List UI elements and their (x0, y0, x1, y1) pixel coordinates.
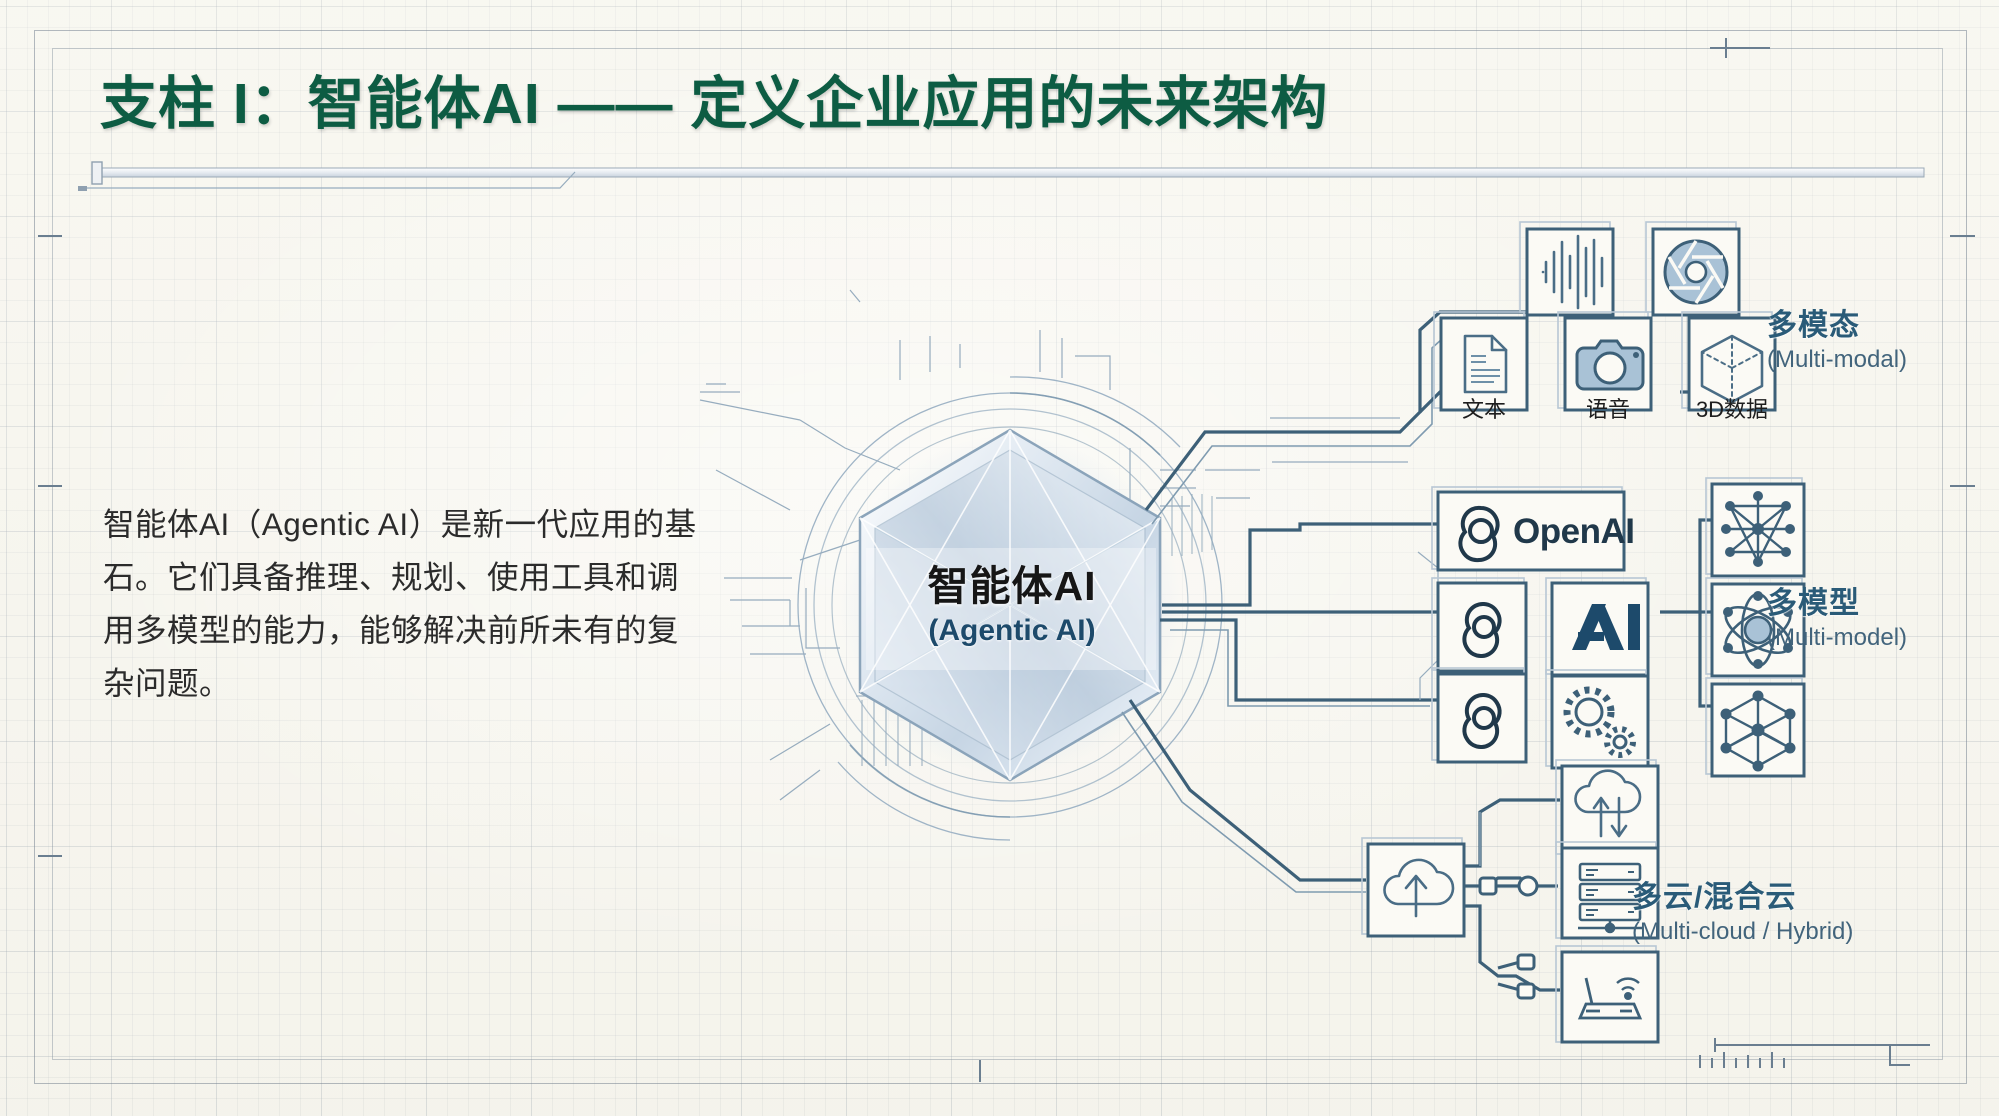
cable-plug-icon (1480, 877, 1537, 895)
camera-icon (1577, 341, 1643, 389)
icon-aperture-box[interactable] (1646, 222, 1739, 315)
branch-label-multicloud-en: (Multi-cloud / Hybrid) (1632, 918, 1853, 946)
branch-label-multimodal-en: (Multi-modal) (1767, 346, 1907, 374)
icon-wifi-router-box[interactable] (1556, 946, 1658, 1042)
branch-label-multicloud: 多云/混合云 (Multi-cloud / Hybrid) (1632, 872, 1853, 946)
icon-cloud-upload-box[interactable] (1362, 838, 1464, 936)
openai-wordmark-text: OpenAI (1513, 512, 1634, 552)
branch-label-multimodel-en: (Multi-model) (1767, 624, 1907, 652)
caption-text: 文本 (1424, 392, 1544, 424)
branch-label-multimodel: 多模型 (Multi-model) (1767, 578, 1907, 652)
page-title: 支柱 I：智能体AI —— 定义企业应用的未来架构 (100, 58, 1328, 140)
intro-paragraph: 智能体AI（Agentic AI）是新一代应用的基石。它们具备推理、规划、使用工… (103, 498, 703, 710)
icon-molecule-net-box[interactable] (1706, 678, 1804, 776)
caption-voice: 语音 (1548, 392, 1668, 424)
branch-label-multimodel-cn: 多模型 (1767, 578, 1907, 622)
caption-3d-data: 3D数据 (1672, 392, 1792, 424)
icon-openai-mark-box-2[interactable] (1432, 668, 1526, 762)
title-rule-decor (78, 162, 1924, 191)
branch-label-multimodal-cn: 多模态 (1767, 300, 1907, 344)
icon-openai-mark-box-1[interactable] (1432, 578, 1526, 671)
branch-label-multicloud-cn: 多云/混合云 (1632, 872, 1853, 916)
icon-waveform-box[interactable] (1520, 222, 1613, 315)
icon-gears-box[interactable] (1546, 670, 1648, 768)
ruler-ticks (1700, 1038, 1930, 1068)
branch-label-multimodal: 多模态 (Multi-modal) (1767, 300, 1907, 374)
icon-neural-net-box[interactable] (1706, 478, 1804, 576)
icon-anthropic-box[interactable] (1546, 578, 1648, 675)
neural-net-icon (1721, 491, 1795, 567)
aperture-icon (1665, 241, 1727, 303)
